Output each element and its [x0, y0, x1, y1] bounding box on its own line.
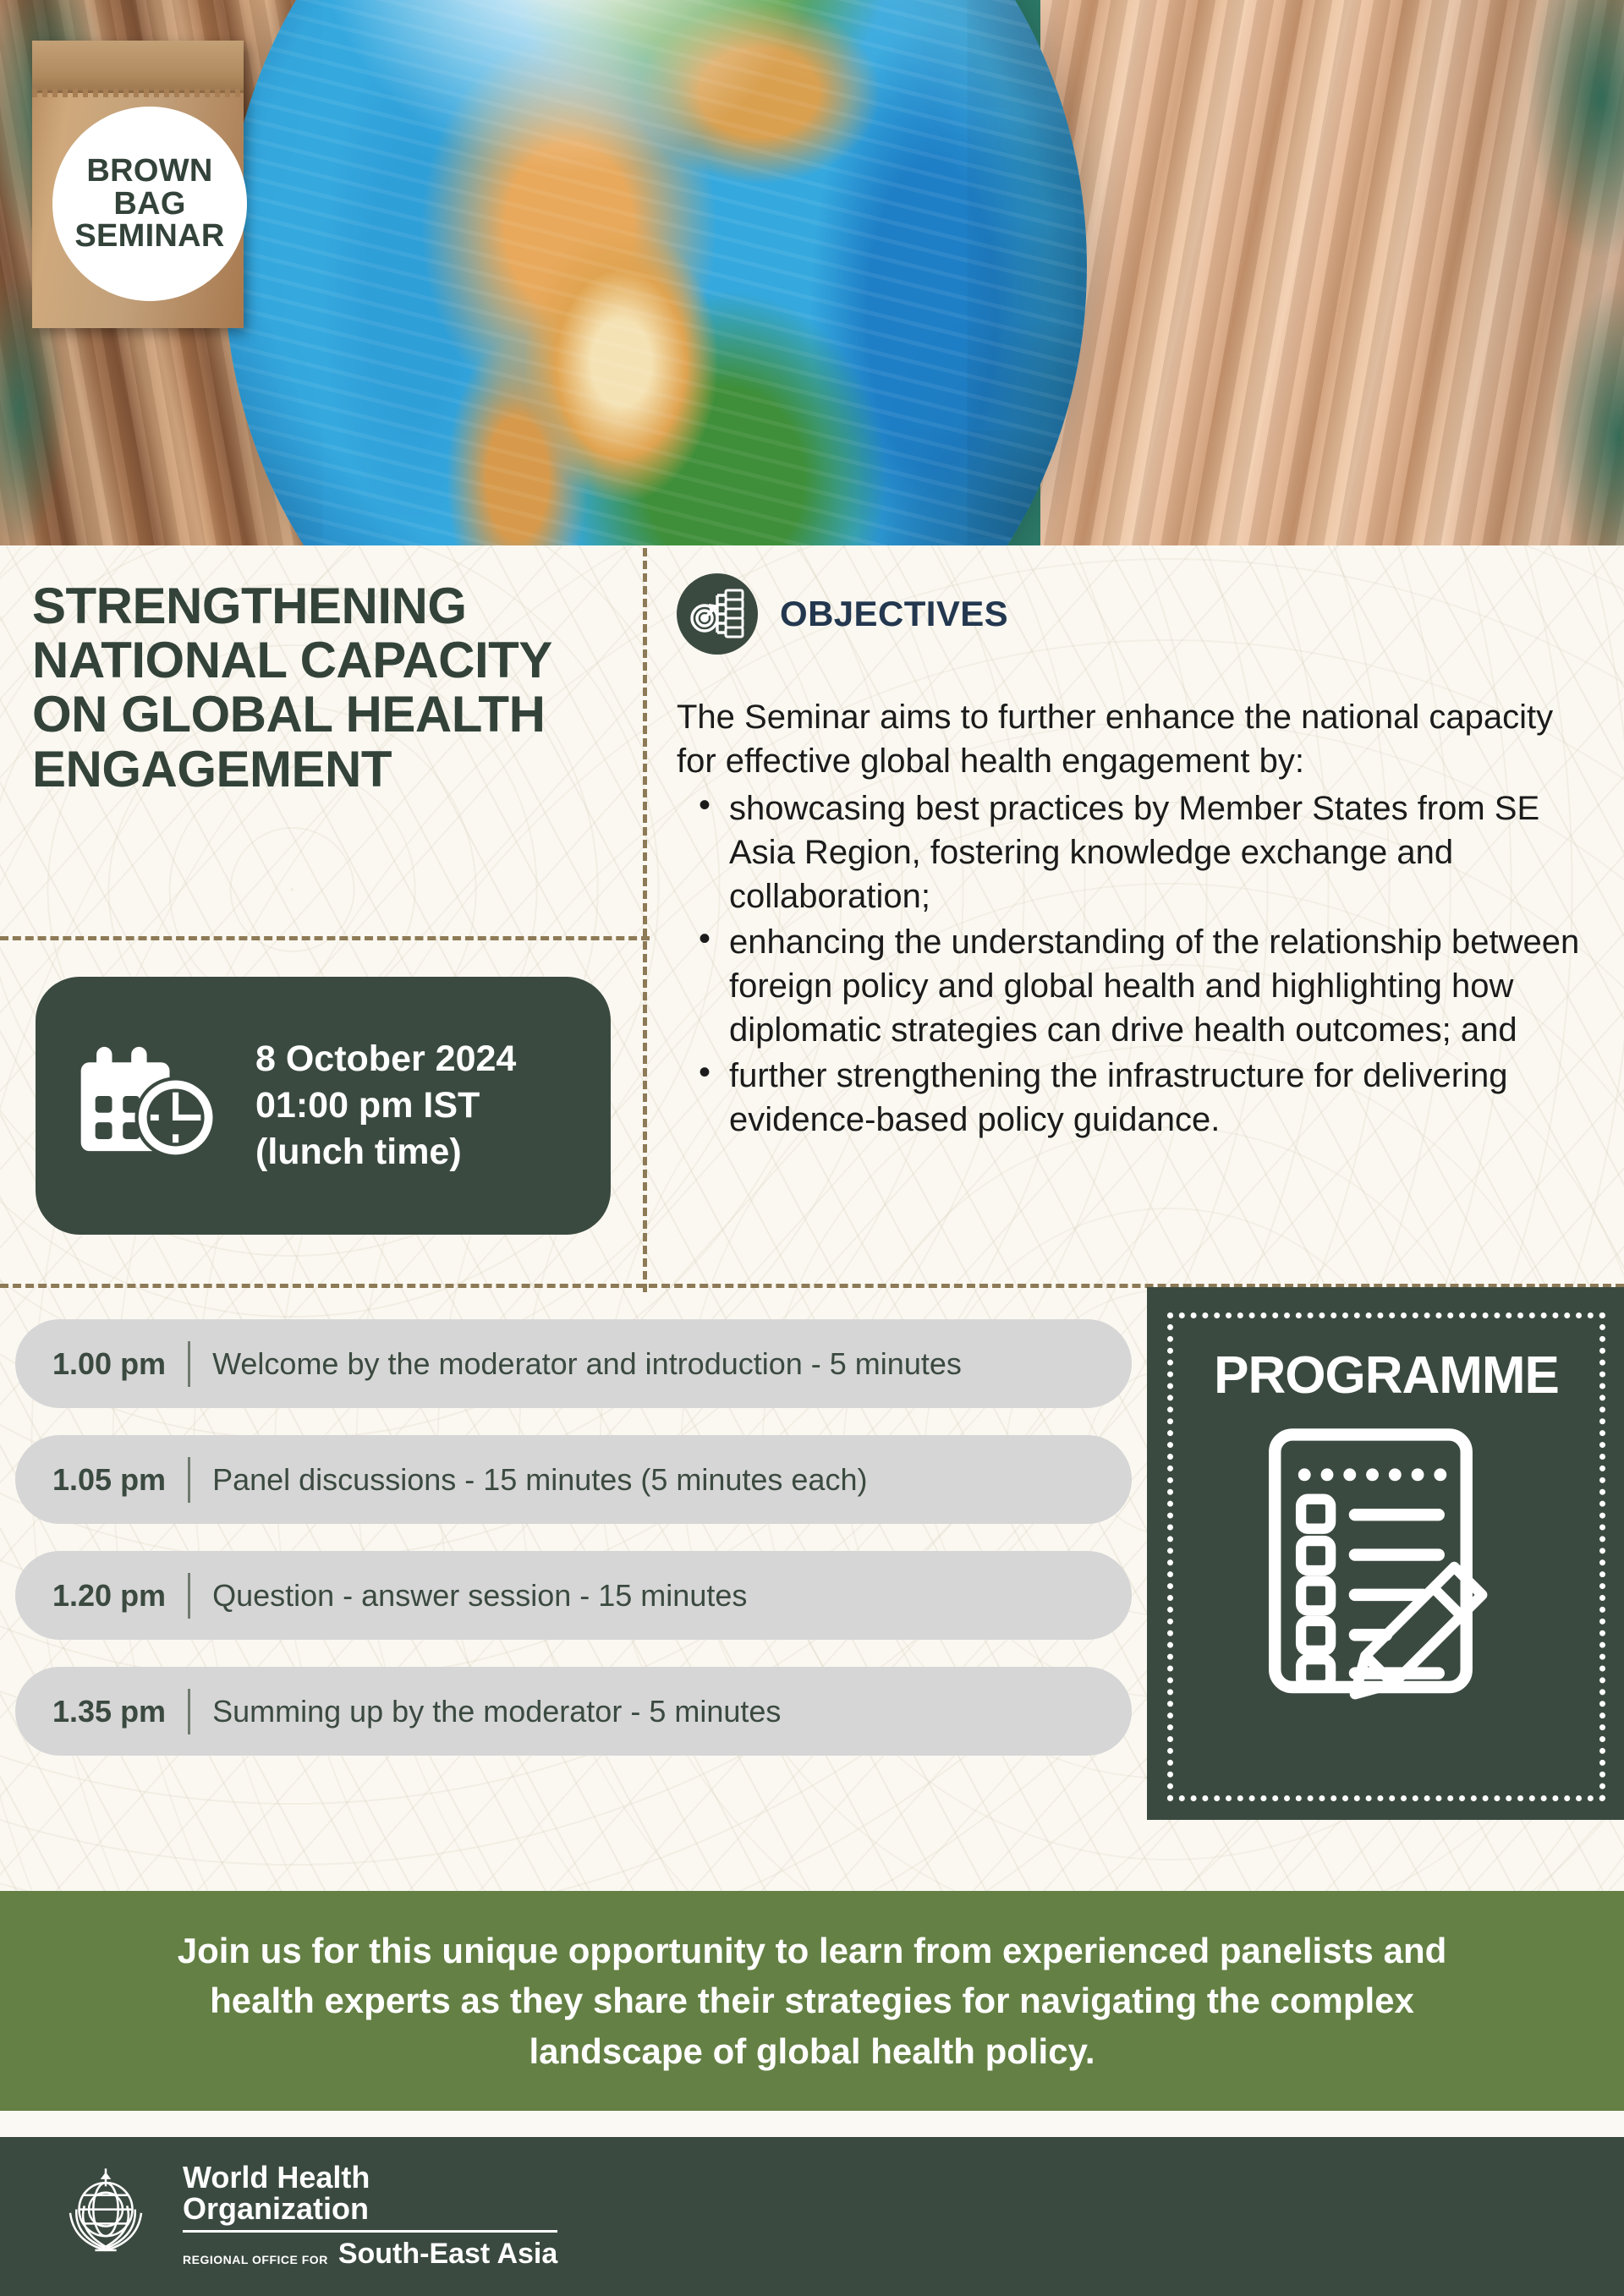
who-line-2: Organization: [183, 2194, 557, 2225]
date-time-box: 8 October 2024 01:00 pm IST (lunch time): [36, 977, 611, 1235]
schedule-row: 1.05 pm Panel discussions - 15 minutes (…: [15, 1435, 1132, 1524]
schedule-row: 1.20 pm Question - answer session - 15 m…: [15, 1551, 1132, 1640]
globe-icon: [224, 0, 1087, 545]
schedule-time: 1.20 pm: [52, 1578, 166, 1614]
checklist-pencil-icon: [1247, 1421, 1526, 1717]
programme-heading: PROGRAMME: [1214, 1345, 1559, 1406]
objective-item: enhancing the understanding of the relat…: [677, 920, 1599, 1052]
date-time-text: 8 October 2024 01:00 pm IST (lunch time): [255, 1036, 516, 1175]
target-flowchart-icon: [677, 573, 758, 655]
hero-image: BROWN BAG SEMINAR: [0, 0, 1624, 545]
schedule-description: Summing up by the moderator - 5 minutes: [212, 1694, 781, 1729]
schedule-description: Question - answer session - 15 minutes: [212, 1578, 747, 1614]
schedule-time: 1.00 pm: [52, 1346, 166, 1382]
badge-line-3: SEMINAR: [74, 220, 224, 253]
page-title-text: STRENGTHENING NATIONAL CAPACITY ON GLOBA…: [32, 579, 624, 797]
schedule-separator: [188, 1341, 190, 1387]
lunch-note: (lunch time): [255, 1129, 516, 1175]
programme-panel: PROGRAMME: [1147, 1287, 1624, 1820]
objectives-intro: The Seminar aims to further enhance the …: [677, 695, 1599, 783]
schedule-description: Panel discussions - 15 minutes (5 minute…: [212, 1462, 867, 1498]
objectives-list: showcasing best practices by Member Stat…: [677, 786, 1599, 1142]
vertical-divider: [643, 548, 647, 1292]
who-rule: [183, 2230, 557, 2233]
who-wordmark: World Health Organization REGIONAL OFFIC…: [183, 2162, 557, 2271]
horizontal-divider-left: [0, 936, 650, 940]
regional-office-label: REGIONAL OFFICE FOR: [183, 2253, 328, 2271]
banner-text: Join us for this unique opportunity to l…: [135, 1926, 1489, 2077]
date-line: 8 October 2024: [255, 1036, 516, 1082]
who-emblem-icon: [52, 2163, 159, 2270]
schedule-separator: [188, 1573, 190, 1619]
time-line: 01:00 pm IST: [255, 1082, 516, 1129]
objectives-header: OBJECTIVES: [677, 573, 1599, 655]
schedule-separator: [188, 1457, 190, 1503]
paper-bag-fold: [32, 41, 244, 93]
badge-line-2: BAG: [113, 188, 185, 221]
objectives-heading: OBJECTIVES: [780, 594, 1008, 634]
programme-panel-border: PROGRAMME: [1167, 1312, 1605, 1801]
programme-schedule-list: 1.00 pm Welcome by the moderator and int…: [15, 1319, 1132, 1783]
objective-item: showcasing best practices by Member Stat…: [677, 786, 1599, 918]
call-to-action-banner: Join us for this unique opportunity to l…: [0, 1891, 1624, 2111]
schedule-separator: [188, 1689, 190, 1734]
page-title: STRENGTHENING NATIONAL CAPACITY ON GLOBA…: [32, 579, 624, 797]
schedule-row: 1.00 pm Welcome by the moderator and int…: [15, 1319, 1132, 1408]
schedule-description: Welcome by the moderator and introductio…: [212, 1346, 962, 1382]
footer: World Health Organization REGIONAL OFFIC…: [0, 2137, 1624, 2296]
hands-right-image: [1040, 0, 1624, 545]
schedule-time: 1.05 pm: [52, 1462, 166, 1498]
objectives-section: OBJECTIVES The Seminar aims to further e…: [677, 573, 1599, 1143]
region-label: South-East Asia: [338, 2238, 557, 2271]
badge-line-1: BROWN: [86, 155, 212, 188]
who-line-1: World Health: [183, 2162, 557, 2194]
calendar-clock-icon: [76, 1043, 220, 1170]
objective-item: further strengthening the infrastructure…: [677, 1054, 1599, 1142]
schedule-time: 1.35 pm: [52, 1694, 166, 1729]
brown-bag-seminar-badge: BROWN BAG SEMINAR: [52, 107, 247, 301]
schedule-row: 1.35 pm Summing up by the moderator - 5 …: [15, 1667, 1132, 1756]
